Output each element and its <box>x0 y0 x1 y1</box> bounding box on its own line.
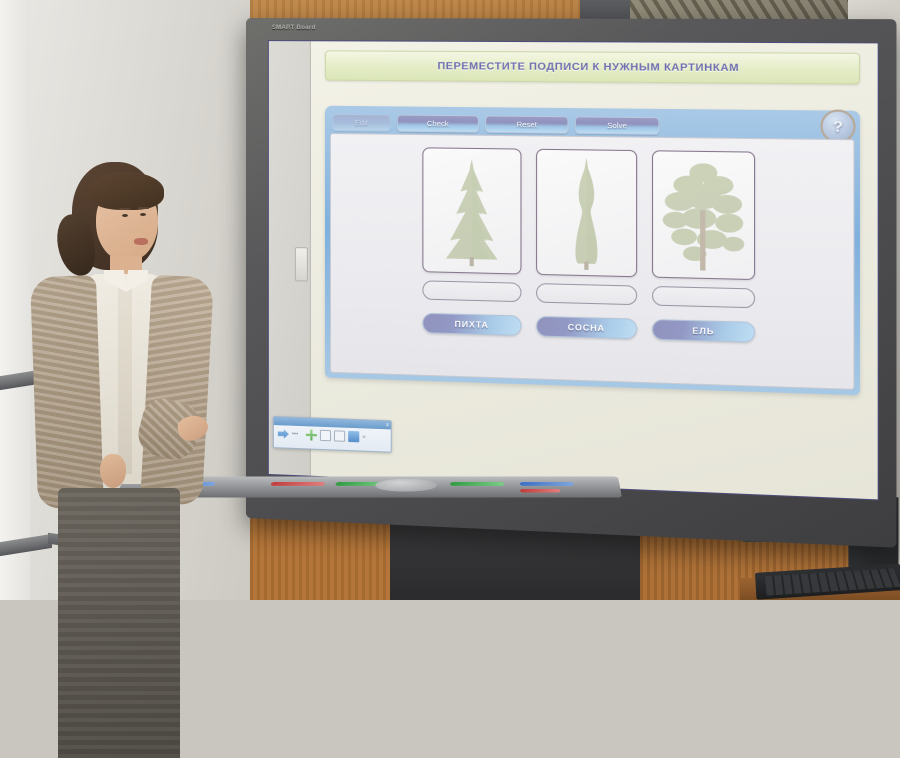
mouth <box>134 238 148 245</box>
board-display[interactable]: ПЕРЕМЕСТИТЕ ПОДПИСИ К НУЖНЫМ КАРТИНКАМ E… <box>268 40 879 500</box>
eraser[interactable] <box>374 479 437 491</box>
screen-icon[interactable] <box>348 431 359 443</box>
cardigan-right <box>140 275 214 506</box>
smart-board[interactable]: SMART Board ПЕРЕМЕСТИТЕ ПОДПИСИ К НУЖНЫМ… <box>246 18 896 548</box>
smart-board-logo: SMART Board <box>272 25 316 31</box>
add-page-icon[interactable] <box>306 429 317 440</box>
check-button[interactable]: Check <box>397 114 479 132</box>
red-pen-2[interactable] <box>520 489 560 493</box>
spruce-tree-image <box>442 157 502 270</box>
drag-label-pihta[interactable]: ПИХТА <box>422 313 521 336</box>
drop-zone-2[interactable] <box>536 283 637 305</box>
skirt <box>58 488 180 758</box>
board-bezel: SMART Board ПЕРЕМЕСТИТЕ ПОДПИСИ К НУЖНЫМ… <box>246 18 896 548</box>
drag-label-sosna[interactable]: СОСНА <box>536 316 637 339</box>
bangs <box>88 172 164 210</box>
drag-labels-row: ПИХТА СОСНА ЕЛЬ <box>343 311 840 346</box>
page-title: ПЕРЕМЕСТИТЕ ПОДПИСИ К НУЖНЫМ КАРТИНКАМ <box>437 60 739 74</box>
drop-zone-1[interactable] <box>422 280 521 302</box>
eyebrow-left <box>119 208 130 210</box>
more-icon[interactable]: » <box>362 431 373 443</box>
eye-right <box>140 213 146 216</box>
side-tab-handle[interactable] <box>295 247 308 281</box>
solve-button[interactable]: Solve <box>575 116 660 134</box>
note-icon[interactable] <box>320 430 331 441</box>
activity-panel: Edit Check Reset Solve ? <box>325 106 860 396</box>
drag-label-el[interactable]: ЕЛЬ <box>652 319 755 343</box>
slide-title-banner: ПЕРЕМЕСТИТЕ ПОДПИСИ К НУЖНЫМ КАРТИНКАМ <box>325 50 860 84</box>
undo-icon[interactable] <box>334 430 345 442</box>
red-pen[interactable] <box>270 482 325 486</box>
picture-card-fir[interactable] <box>536 149 637 278</box>
green-pen-2[interactable] <box>450 482 504 486</box>
reset-button[interactable]: Reset <box>485 115 568 133</box>
presenter <box>18 158 218 600</box>
blouse-placket <box>118 284 132 474</box>
activity-canvas: ПИХТА СОСНА ЕЛЬ <box>330 133 855 390</box>
classroom-scene: SMART Board ПЕРЕМЕСТИТЕ ПОДПИСИ К НУЖНЫМ… <box>0 0 900 600</box>
cardigan-left <box>30 275 104 509</box>
edit-button[interactable]: Edit <box>332 113 391 131</box>
blue-pen-2[interactable] <box>520 482 574 486</box>
floating-toolbar[interactable]: x ••• » <box>273 416 392 453</box>
pine-tree-image <box>663 158 745 276</box>
floating-toolbar-icons: ••• » <box>274 425 391 447</box>
picture-cards-row <box>343 146 840 282</box>
fir-tree-image <box>565 156 607 272</box>
eyebrow-right <box>138 207 149 209</box>
arrow-right-icon[interactable] <box>278 428 289 439</box>
picture-card-pine[interactable] <box>652 150 755 280</box>
drop-zone-3[interactable] <box>652 286 755 308</box>
hand-left <box>100 454 126 488</box>
close-icon[interactable]: x <box>386 423 389 428</box>
slide-content: ПЕРЕМЕСТИТЕ ПОДПИСИ К НУЖНЫМ КАРТИНКАМ E… <box>311 41 878 499</box>
eye-left <box>122 214 128 217</box>
picture-card-spruce[interactable] <box>422 147 521 274</box>
ellipsis-icon[interactable]: ••• <box>292 429 303 440</box>
drop-zones-row <box>343 278 840 310</box>
